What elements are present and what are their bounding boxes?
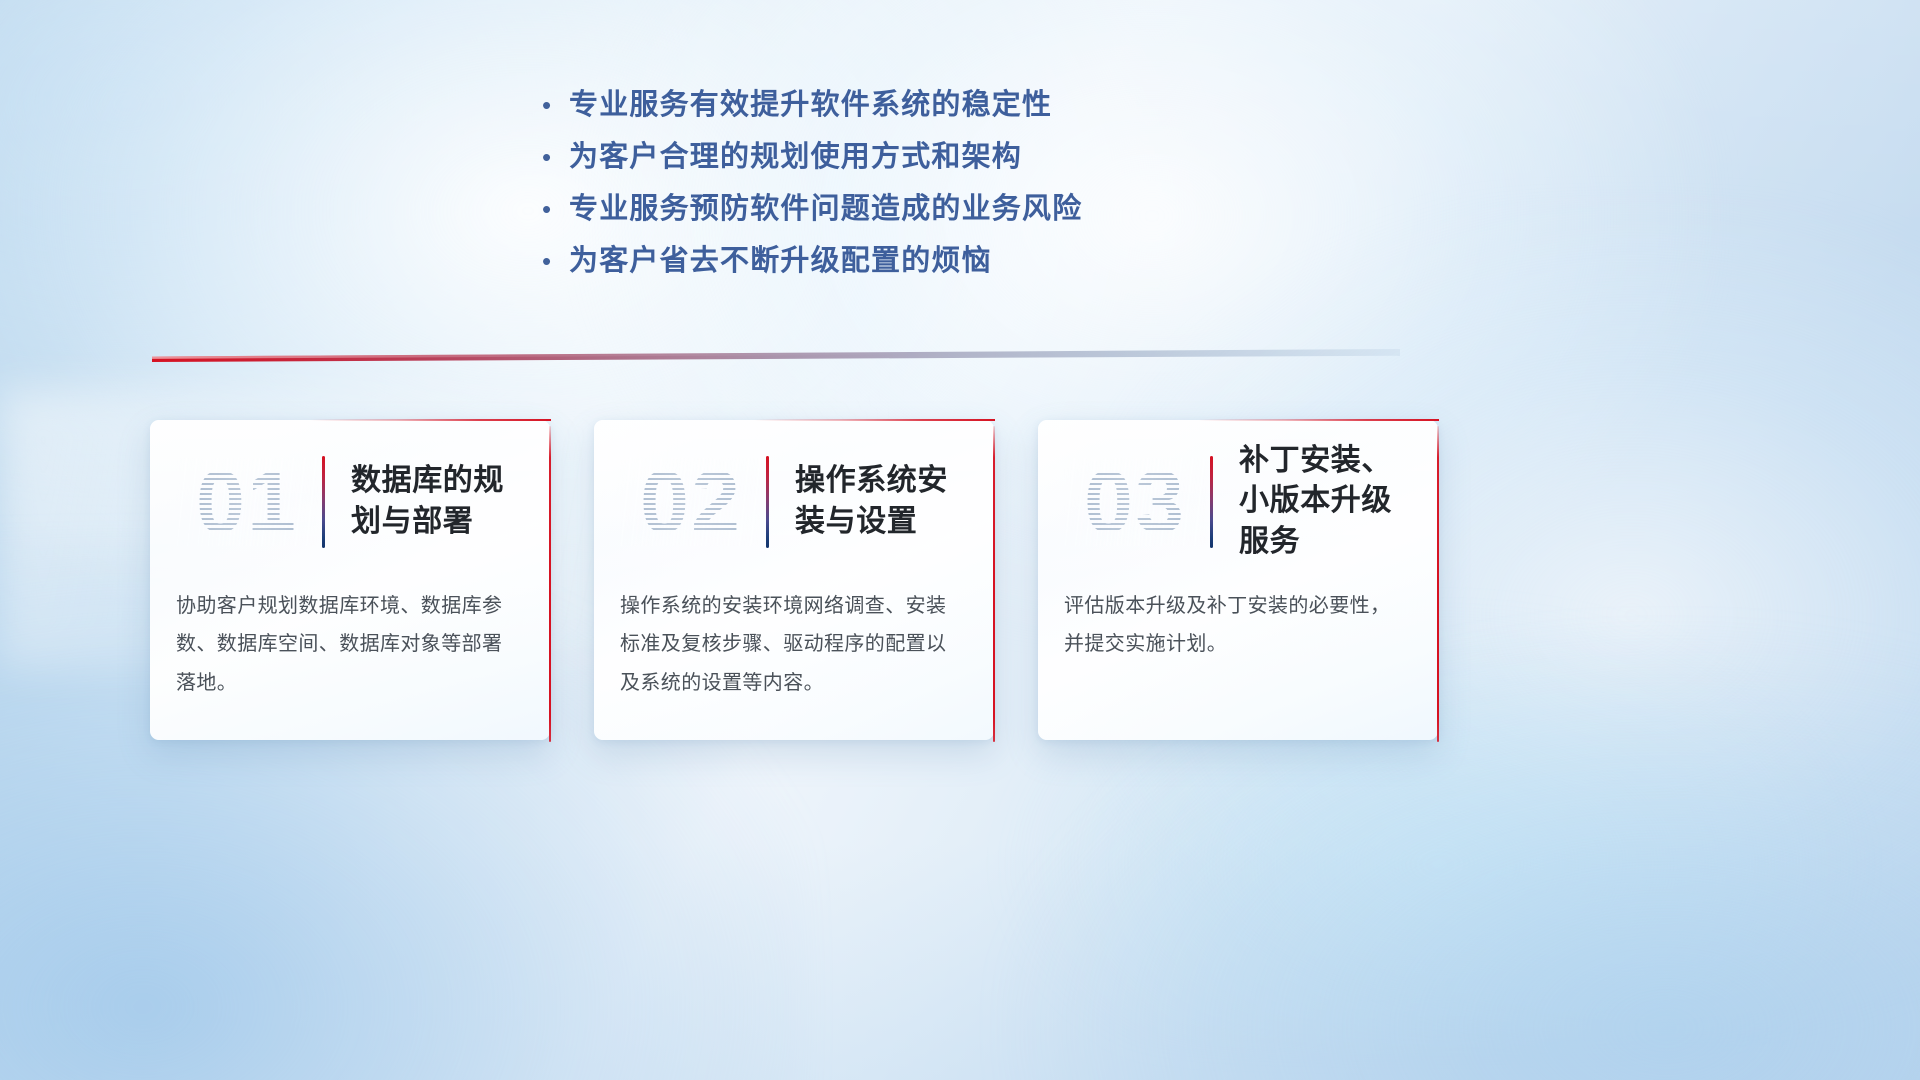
- service-card-list: 01 数据库的规划与部署 协助客户规划数据库环境、数据库参数、数据库空间、数据库…: [150, 420, 1608, 740]
- bullet-item: • 专业服务预防软件问题造成的业务风险: [535, 192, 1082, 244]
- bullet-item-label: 专业服务预防软件问题造成的业务风险: [569, 192, 1082, 227]
- bullet-item-label: 专业服务有效提升软件系统的稳定性: [569, 88, 1052, 123]
- bullet-dot-icon: •: [535, 196, 569, 222]
- card-number: 02: [620, 458, 762, 546]
- card-header: 02 操作系统安装与设置: [594, 420, 994, 569]
- service-card[interactable]: 02 操作系统安装与设置 操作系统的安装环境网络调查、安装标准及复核步骤、驱动程…: [594, 420, 994, 740]
- card-header: 03 补丁安装、小版本升级服务: [1038, 420, 1438, 569]
- card-number: 03: [1064, 458, 1206, 546]
- card-description: 评估版本升级及补丁安装的必要性，并提交实施计划。: [1064, 587, 1408, 664]
- card-title: 补丁安装、小版本升级服务: [1239, 441, 1438, 562]
- bullet-item: • 专业服务有效提升软件系统的稳定性: [535, 88, 1082, 140]
- service-card[interactable]: 01 数据库的规划与部署 协助客户规划数据库环境、数据库参数、数据库空间、数据库…: [150, 420, 550, 740]
- bullet-dot-icon: •: [535, 248, 569, 274]
- card-number: 01: [176, 458, 318, 546]
- card-title: 操作系统安装与设置: [795, 461, 994, 541]
- card-header: 01 数据库的规划与部署: [150, 420, 550, 569]
- bullet-item: • 为客户合理的规划使用方式和架构: [535, 140, 1082, 192]
- section-divider: [152, 349, 1400, 362]
- card-separator-bar: [1210, 456, 1213, 548]
- bullet-item-label: 为客户省去不断升级配置的烦恼: [569, 244, 992, 279]
- bullet-dot-icon: •: [535, 92, 569, 118]
- bullet-item: • 为客户省去不断升级配置的烦恼: [535, 244, 1082, 296]
- bullet-dot-icon: •: [535, 144, 569, 170]
- feature-bullet-list: • 专业服务有效提升软件系统的稳定性 • 为客户合理的规划使用方式和架构 • 专…: [535, 88, 1082, 296]
- card-description: 操作系统的安装环境网络调查、安装标准及复核步骤、驱动程序的配置以及系统的设置等内…: [620, 587, 964, 702]
- bullet-item-label: 为客户合理的规划使用方式和架构: [569, 140, 1022, 175]
- card-separator-bar: [322, 456, 325, 548]
- card-description: 协助客户规划数据库环境、数据库参数、数据库空间、数据库对象等部署落地。: [176, 587, 520, 702]
- card-separator-bar: [766, 456, 769, 548]
- service-card[interactable]: 03 补丁安装、小版本升级服务 评估版本升级及补丁安装的必要性，并提交实施计划。: [1038, 420, 1438, 740]
- card-title: 数据库的规划与部署: [351, 461, 550, 541]
